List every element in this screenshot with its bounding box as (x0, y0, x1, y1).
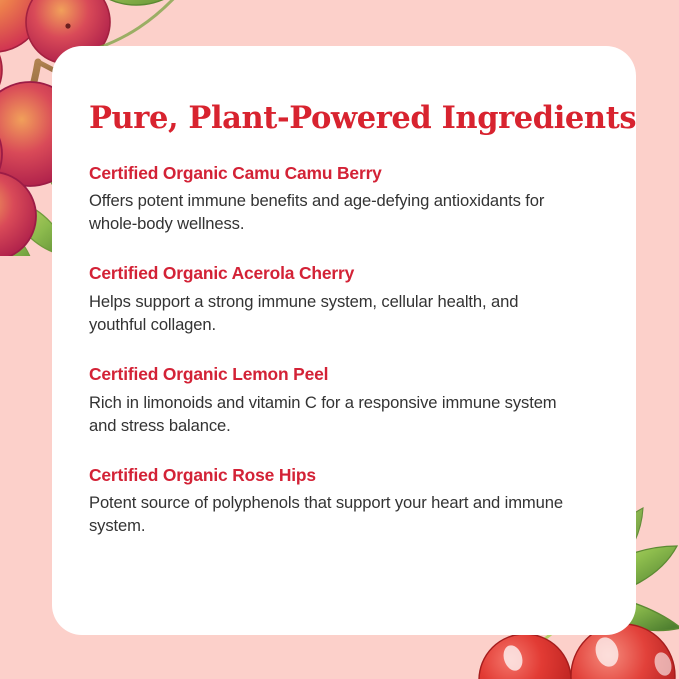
ingredients-card: Pure, Plant-Powered Ingredients Certifie… (52, 46, 636, 635)
ingredients-poster: Pure, Plant-Powered Ingredients Certifie… (0, 0, 679, 679)
ingredient-description: Helps support a strong immune system, ce… (89, 291, 579, 337)
ingredients-list: Certified Organic Camu Camu Berry Offers… (89, 163, 592, 539)
ingredient-description: Potent source of polyphenols that suppor… (89, 492, 579, 538)
ingredient-name: Certified Organic Lemon Peel (89, 364, 592, 385)
ingredient-description: Offers potent immune benefits and age-de… (89, 190, 579, 236)
list-item: Certified Organic Acerola Cherry Helps s… (89, 263, 592, 337)
list-item: Certified Organic Camu Camu Berry Offers… (89, 163, 592, 237)
list-item: Certified Organic Rose Hips Potent sourc… (89, 465, 592, 539)
ingredient-name: Certified Organic Rose Hips (89, 465, 592, 486)
ingredient-name: Certified Organic Camu Camu Berry (89, 163, 592, 184)
ingredient-name: Certified Organic Acerola Cherry (89, 263, 592, 284)
ingredient-description: Rich in limonoids and vitamin C for a re… (89, 392, 579, 438)
page-title: Pure, Plant-Powered Ingredients (89, 102, 592, 136)
list-item: Certified Organic Lemon Peel Rich in lim… (89, 364, 592, 438)
